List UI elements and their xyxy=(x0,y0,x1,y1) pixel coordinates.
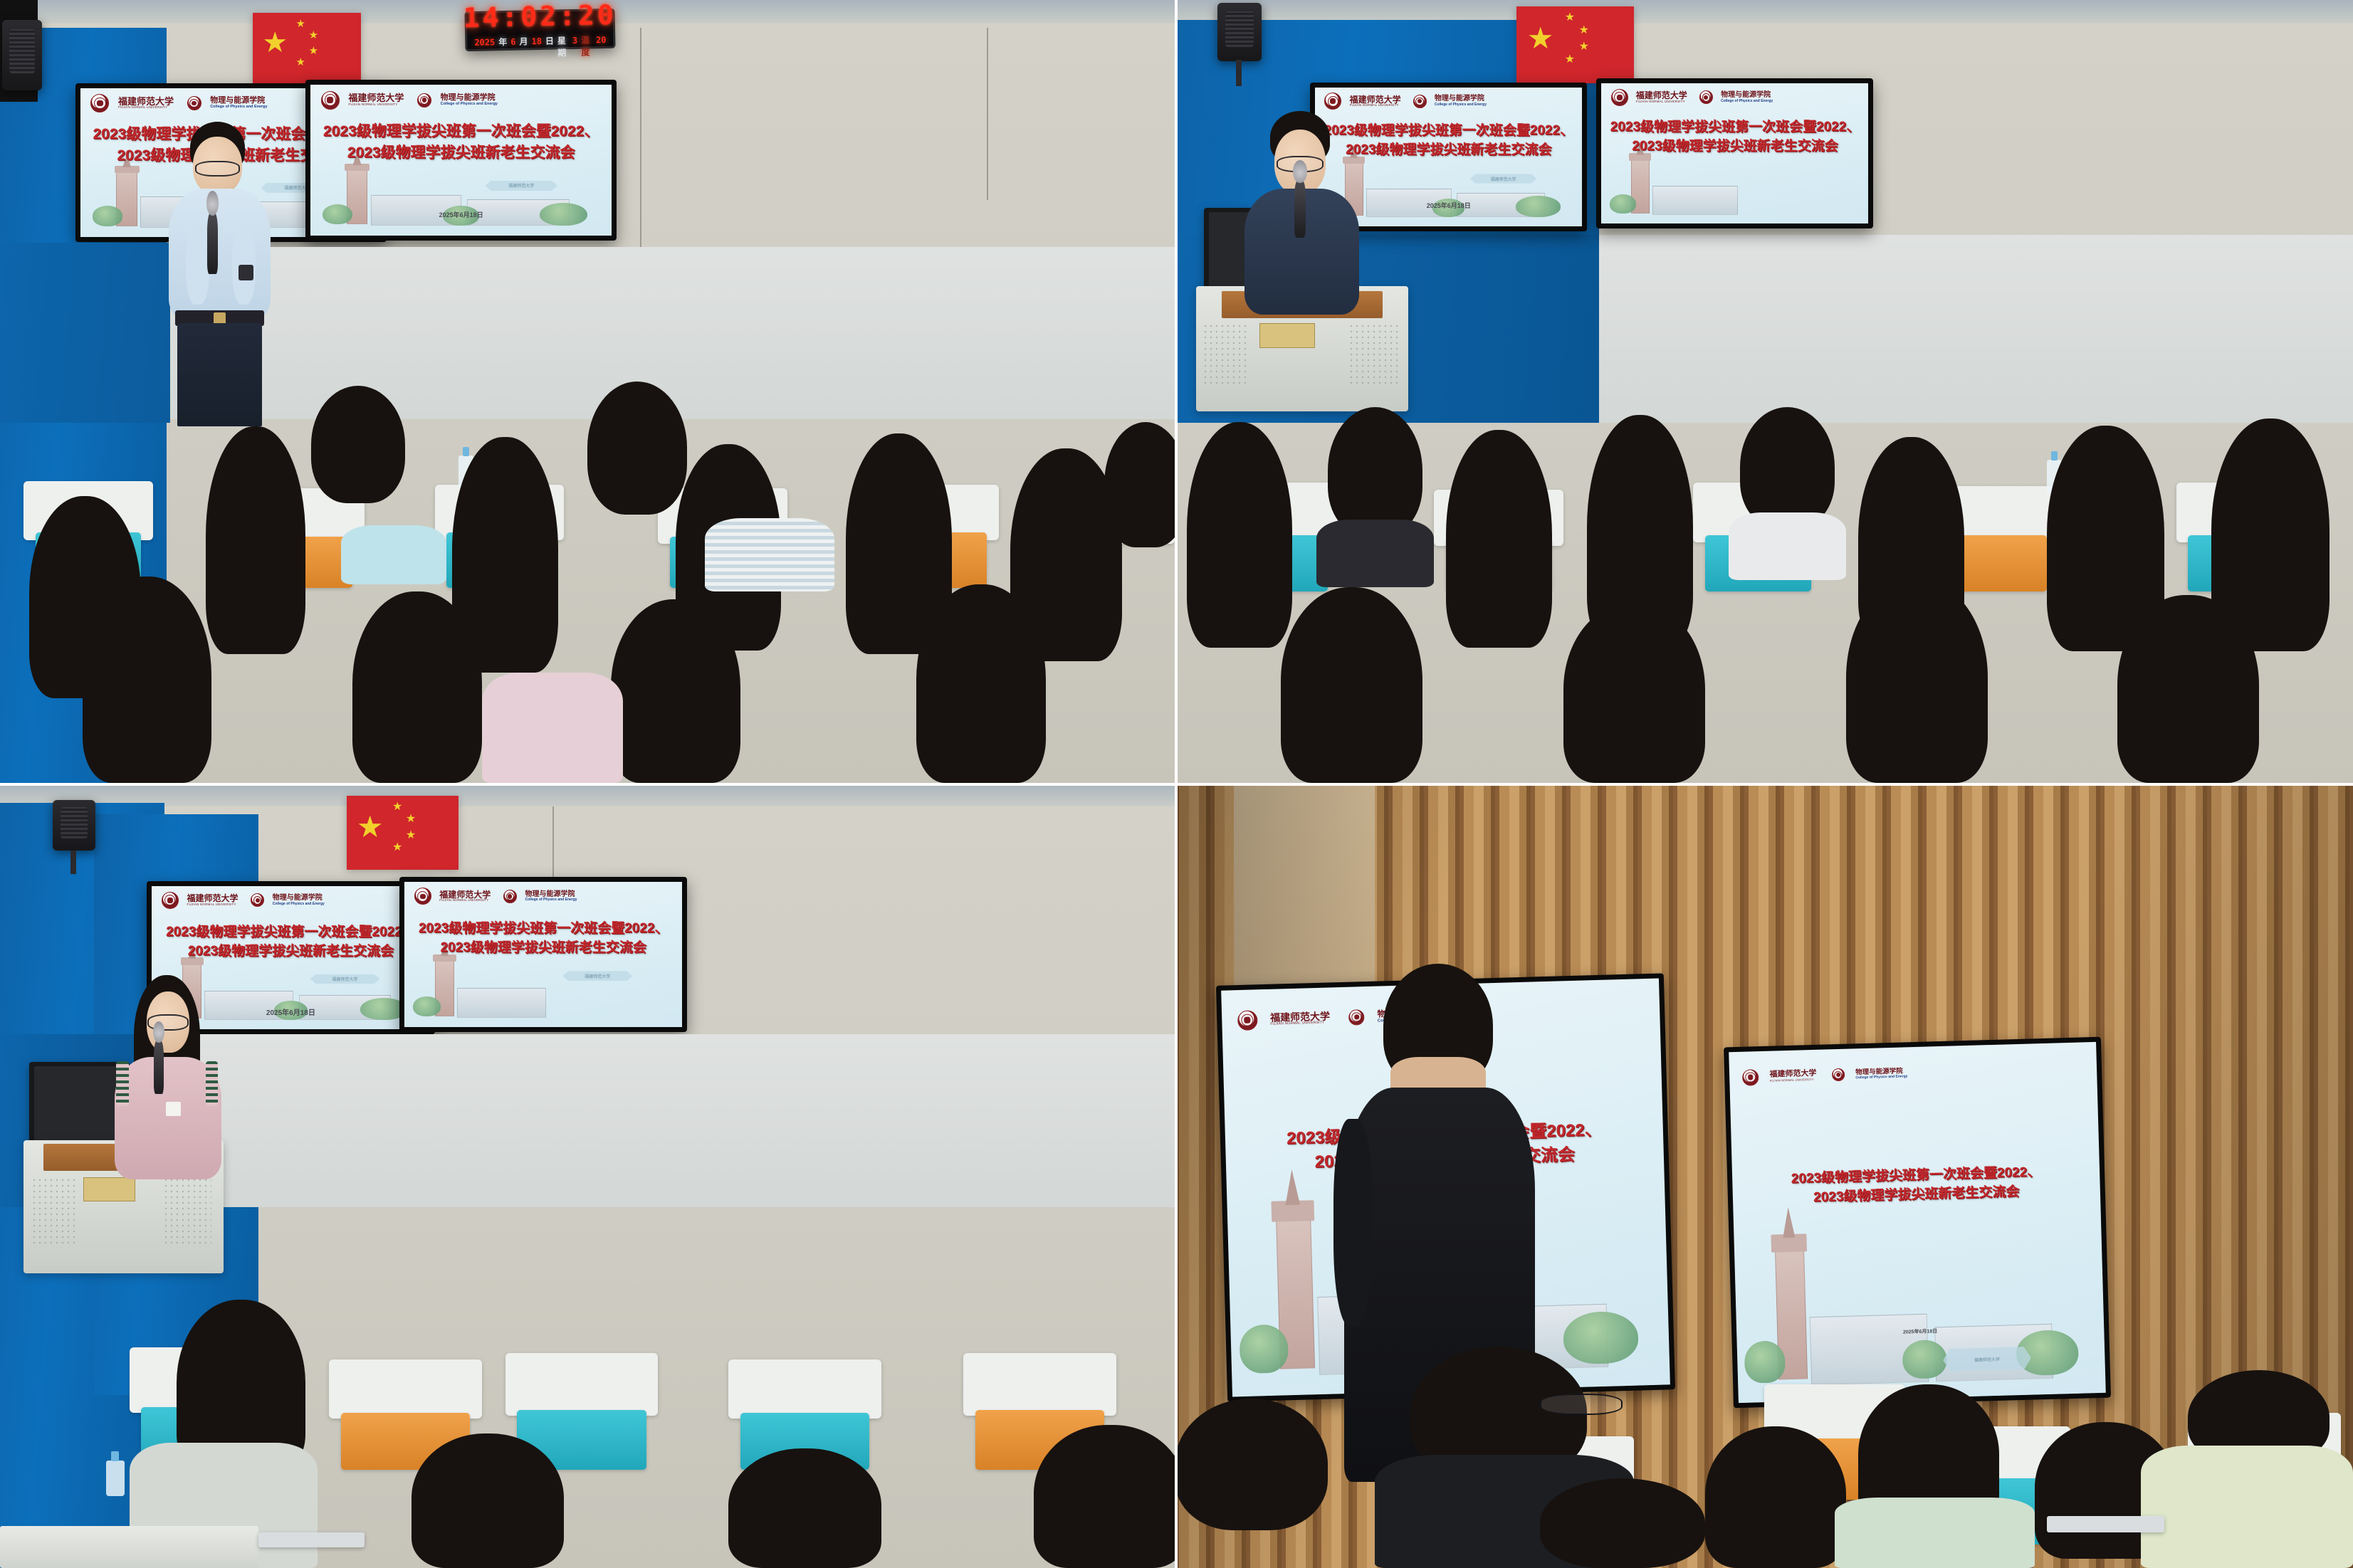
college-name: 物理与能源学院 College of Physics and Energy xyxy=(441,94,498,106)
audience-shirt xyxy=(482,673,623,783)
college-name-en: College of Physics and Energy xyxy=(441,102,498,107)
audience-head xyxy=(1446,430,1552,648)
university-name-en: FUJIAN NORMAL UNIVERSITY xyxy=(439,899,491,903)
clock-temp: 20 xyxy=(596,35,607,45)
blue-wall-lower xyxy=(0,243,170,423)
audience-shirt xyxy=(1729,512,1847,580)
slide-watermark: 福建师范大学 xyxy=(562,971,632,981)
audience-glasses-icon xyxy=(1540,1394,1623,1415)
flag-small-star: ★ xyxy=(1565,12,1575,23)
slide-watermark-text: 福建师范大学 xyxy=(508,182,534,189)
clock-month: 6 xyxy=(511,37,517,47)
china-flag: ★ ★ ★ ★ ★ xyxy=(347,796,458,870)
audience-area xyxy=(1175,1332,2353,1568)
podium-vent xyxy=(163,1177,211,1247)
presenter xyxy=(123,975,212,1179)
clock-time: 14:02:20 xyxy=(463,0,617,34)
college-seal-icon xyxy=(1413,95,1427,108)
clock-month-unit: 月 xyxy=(520,36,528,48)
clock-weekday-label: 星期 xyxy=(557,35,570,59)
audience-head xyxy=(1328,407,1422,535)
audience-head xyxy=(1563,603,1705,783)
presentation-screen-right: 福建师范大学 FUJIAN NORMAL UNIVERSITY 物理与能源学院 … xyxy=(1596,78,1873,228)
audience-head xyxy=(587,382,687,514)
slide-title: 2023级物理学拔尖班第一次班会暨2022、 2023级物理学拔尖班新老生交流会 xyxy=(1732,1162,2100,1210)
podium-vent xyxy=(1202,323,1249,386)
campus-building xyxy=(457,988,546,1018)
audience-head xyxy=(1281,587,1422,783)
audience-head xyxy=(611,599,740,784)
chair-back xyxy=(728,1359,881,1419)
slide-watermark: 福建师范大学 xyxy=(485,181,557,191)
ceiling-speaker xyxy=(53,800,95,851)
ceiling-speaker xyxy=(2,20,42,90)
university-name: 福建师范大学 FUJIAN NORMAL UNIVERSITY xyxy=(1270,1011,1331,1026)
clock-temp-label: 温度 xyxy=(581,34,593,58)
clock-day: 18 xyxy=(532,36,543,46)
university-seal-icon xyxy=(1742,1069,1759,1086)
college-seal-icon xyxy=(1831,1068,1844,1081)
university-name-cn: 福建师范大学 xyxy=(187,894,239,903)
wall-seam xyxy=(640,28,641,278)
university-seal-icon xyxy=(1324,93,1341,110)
college-name: 物理与能源学院 College of Physics and Energy xyxy=(273,895,325,906)
flag-small-star: ★ xyxy=(309,46,318,56)
campus-illustration: 福建师范大学 xyxy=(404,952,682,1027)
name-badge xyxy=(166,1102,180,1116)
speaker-mount xyxy=(1236,60,1242,86)
audience-head xyxy=(83,577,212,783)
audience-shirt xyxy=(2141,1446,2353,1568)
campus-illustration: 福建师范大学 xyxy=(310,157,612,236)
microphone xyxy=(1294,180,1306,237)
speaker-mount xyxy=(70,851,76,874)
audience-shirt xyxy=(1835,1498,2035,1568)
college-name-en: College of Physics and Energy xyxy=(273,903,325,906)
slide-watermark: 福建师范大学 xyxy=(1470,174,1537,183)
slide-logo-row: 福建师范大学 FUJIAN NORMAL UNIVERSITY 物理与能源学院 … xyxy=(414,888,673,905)
college-name-cn: 物理与能源学院 xyxy=(441,94,498,102)
clock-year-unit: 年 xyxy=(498,36,507,48)
china-flag: ★ ★ ★ ★ ★ xyxy=(253,13,361,85)
audience-head xyxy=(311,386,405,503)
college-name-cn: 物理与能源学院 xyxy=(273,895,325,903)
university-name-en: FUJIAN NORMAL UNIVERSITY xyxy=(348,103,404,107)
audience-area xyxy=(0,1270,1175,1568)
screen-content: 福建师范大学 FUJIAN NORMAL UNIVERSITY 物理与能源学院 … xyxy=(1601,83,1868,223)
college-name: 物理与能源学院 College of Physics and Energy xyxy=(525,891,577,903)
slide-title: 2023级物理学拔尖班第一次班会暨2022、 2023级物理学拔尖班新老生交流会 xyxy=(152,923,429,962)
student-desk xyxy=(0,1526,258,1568)
audience-head xyxy=(1104,422,1175,547)
slide-title: 2023级物理学拔尖班第一次班会暨2022、 2023级物理学拔尖班新老生交流会 xyxy=(1315,122,1582,160)
university-seal-icon xyxy=(1611,89,1628,106)
college-name-cn: 物理与能源学院 xyxy=(1721,92,1773,100)
slide-date: 2025年6月18日 xyxy=(1315,201,1582,210)
audience-head xyxy=(1175,1399,1328,1530)
slide-title: 2023级物理学拔尖班第一次班会暨2022、 2023级物理学拔尖班新老生交流会 xyxy=(310,121,612,164)
podium-vent xyxy=(31,1177,75,1247)
university-seal-icon xyxy=(90,94,109,112)
audience-head xyxy=(1705,1426,1847,1568)
audience-head xyxy=(352,591,482,783)
university-name: 福建师范大学 FUJIAN NORMAL UNIVERSITY xyxy=(1350,95,1401,107)
college-seal-icon xyxy=(503,890,517,903)
slide-watermark-text: 福建师范大学 xyxy=(585,973,610,979)
audience-head xyxy=(728,1448,881,1568)
chair-back xyxy=(963,1353,1116,1416)
presenter-glasses-icon xyxy=(195,161,239,176)
presenter-arm xyxy=(1333,1119,1373,1326)
slide-logo-row: 福建师范大学 FUJIAN NORMAL UNIVERSITY 物理与能源学院 … xyxy=(1742,1060,2084,1085)
college-name-en: College of Physics and Energy xyxy=(1435,103,1487,107)
slide-logo-row: 福建师范大学 FUJIAN NORMAL UNIVERSITY 物理与能源学院 … xyxy=(1324,93,1573,110)
university-name: 福建师范大学 FUJIAN NORMAL UNIVERSITY xyxy=(1636,91,1687,103)
slide-logo-row: 福建师范大学 FUJIAN NORMAL UNIVERSITY 物理与能源学院 … xyxy=(321,91,602,110)
college-name-en: College of Physics and Energy xyxy=(1855,1075,1907,1080)
microphone xyxy=(154,1041,164,1094)
university-name: 福建师范大学 FUJIAN NORMAL UNIVERSITY xyxy=(348,93,404,106)
audience-head xyxy=(1034,1425,1175,1568)
college-name: 物理与能源学院 College of Physics and Energy xyxy=(1721,92,1773,103)
university-name-en: FUJIAN NORMAL UNIVERSITY xyxy=(118,106,174,110)
audience-head xyxy=(1846,580,1988,783)
tree xyxy=(1610,194,1636,214)
flag-small-star: ★ xyxy=(1579,41,1589,53)
panel-bottom-left: ★ ★ ★ ★ ★ 福建师范大学 FUJIAN NORMAL UNIVERSIT… xyxy=(0,783,1175,1568)
microphone xyxy=(207,213,218,274)
slide-title: 2023级物理学拔尖班第一次班会暨2022、 2023级物理学拔尖班新老生交流会 xyxy=(1601,118,1868,157)
presenter-trousers xyxy=(177,323,262,427)
college-name-en: College of Physics and Energy xyxy=(525,898,577,902)
clock-weekday: 3 xyxy=(572,36,578,46)
flag-big-star: ★ xyxy=(262,28,288,57)
audience-shirt xyxy=(1316,520,1435,587)
clock-date-row: 2025 年 6 月 18 日 星期 3 温度 20 xyxy=(475,33,607,60)
university-name-en: FUJIAN NORMAL UNIVERSITY xyxy=(1636,100,1687,104)
presentation-screen-right: 福建师范大学 FUJIAN NORMAL UNIVERSITY 物理与能源学院 … xyxy=(305,80,617,241)
audience-head xyxy=(206,426,305,655)
presenter-arm xyxy=(186,225,209,305)
screen-content: 福建师范大学 FUJIAN NORMAL UNIVERSITY 物理与能源学院 … xyxy=(404,882,682,1026)
college-seal-icon xyxy=(417,93,431,107)
audience-area xyxy=(1175,407,2353,783)
clock-day-unit: 日 xyxy=(545,35,554,47)
chair-back xyxy=(505,1353,659,1416)
wristwatch-icon xyxy=(239,265,253,280)
flag-small-star: ★ xyxy=(1565,54,1575,65)
college-name: 物理与能源学院 College of Physics and Energy xyxy=(1435,95,1487,107)
sleeve-stripes xyxy=(116,1061,129,1106)
flag-small-star: ★ xyxy=(392,842,402,853)
audience-head xyxy=(412,1433,565,1568)
university-name: 福建师范大学 FUJIAN NORMAL UNIVERSITY xyxy=(118,97,174,110)
ceiling xyxy=(0,783,1175,806)
campus-illustration xyxy=(1601,151,1868,224)
audience-head xyxy=(1187,422,1293,648)
college-seal-icon xyxy=(251,893,264,907)
university-seal-icon xyxy=(321,91,340,110)
chair-back xyxy=(329,1359,482,1419)
podium-plaque xyxy=(1259,323,1314,348)
flag-small-star: ★ xyxy=(309,30,318,41)
slide-logo-row: 福建师范大学 FUJIAN NORMAL UNIVERSITY 物理与能源学院 … xyxy=(1611,89,1860,106)
tree xyxy=(413,996,441,1016)
college-name-en: College of Physics and Energy xyxy=(210,105,267,110)
collage-divider-horizontal xyxy=(0,783,2353,786)
photo-collage: ★ ★ ★ ★ ★ 14:02:20 2025 年 6 月 18 日 星期 3 … xyxy=(0,0,2353,1568)
audience-head xyxy=(1540,1478,1705,1568)
university-name-cn: 福建师范大学 xyxy=(1636,91,1687,100)
college-name: 物理与能源学院 College of Physics and Energy xyxy=(210,97,267,109)
panel-top-left: ★ ★ ★ ★ ★ 14:02:20 2025 年 6 月 18 日 星期 3 … xyxy=(0,0,1175,783)
flag-small-star: ★ xyxy=(406,830,416,841)
wall-seam xyxy=(987,28,988,200)
slide-date: 2025年6月18日 xyxy=(310,210,612,219)
college-name: 物理与能源学院 College of Physics and Energy xyxy=(1855,1068,1907,1080)
university-name-en: FUJIAN NORMAL UNIVERSITY xyxy=(1270,1021,1330,1026)
audience-area xyxy=(0,415,1175,783)
university-seal-icon xyxy=(414,888,431,905)
audience-head xyxy=(916,584,1046,783)
university-name-en: FUJIAN NORMAL UNIVERSITY xyxy=(1350,104,1401,107)
university-seal-icon xyxy=(162,892,179,909)
audience-shirt xyxy=(705,518,834,591)
university-name: 福建师范大学 FUJIAN NORMAL UNIVERSITY xyxy=(187,894,239,906)
audience-shirt xyxy=(341,525,447,584)
university-name-en: FUJIAN NORMAL UNIVERSITY xyxy=(1770,1078,1817,1083)
slide-title: 2023级物理学拔尖班第一次班会暨2022、 2023级物理学拔尖班新老生交流会 xyxy=(404,920,682,958)
screen-content: 福建师范大学 FUJIAN NORMAL UNIVERSITY 物理与能源学院 … xyxy=(1315,88,1582,226)
flag-big-star: ★ xyxy=(1527,23,1554,53)
college-seal-icon xyxy=(1699,90,1713,104)
ceiling-speaker xyxy=(1217,3,1262,60)
clock-year: 2025 xyxy=(475,38,496,48)
presenter xyxy=(1252,111,1351,315)
university-name: 福建师范大学 FUJIAN NORMAL UNIVERSITY xyxy=(439,890,491,903)
audience-head xyxy=(2117,595,2259,783)
flag-small-star: ★ xyxy=(295,19,305,29)
panel-top-right: ★ ★ ★ ★ ★ 福建师范大学 FUJIAN NORMAL UNIVERSIT… xyxy=(1175,0,2353,783)
podium-plaque xyxy=(83,1177,135,1201)
college-seal-icon xyxy=(187,96,201,110)
university-name-cn: 福建师范大学 xyxy=(348,93,404,103)
presentation-screen-right: 福建师范大学 FUJIAN NORMAL UNIVERSITY 物理与能源学院 … xyxy=(399,877,687,1031)
presenter xyxy=(167,122,273,427)
panel-bottom-right: 福建师范大学 FUJIAN NORMAL UNIVERSITY 物理与能源学院 … xyxy=(1175,783,2353,1568)
audience-head xyxy=(1740,407,1834,527)
flag-small-star: ★ xyxy=(1579,25,1589,36)
screen-content: 福建师范大学 FUJIAN NORMAL UNIVERSITY 物理与能源学院 … xyxy=(310,85,612,236)
university-name-en: FUJIAN NORMAL UNIVERSITY xyxy=(187,903,239,907)
slide-watermark: 福建师范大学 xyxy=(310,974,380,984)
sleeve-stripes xyxy=(206,1061,219,1106)
notebook xyxy=(258,1532,365,1547)
flag-small-star: ★ xyxy=(295,57,305,68)
campus-building xyxy=(1652,186,1738,215)
digital-wall-clock: 14:02:20 2025 年 6 月 18 日 星期 3 温度 20 xyxy=(465,9,616,52)
flag-big-star: ★ xyxy=(357,812,384,842)
university-seal-icon xyxy=(1237,1010,1258,1031)
slide-watermark-text: 福建师范大学 xyxy=(1491,176,1516,182)
university-name-cn: 福建师范大学 xyxy=(118,97,174,107)
flag-small-star: ★ xyxy=(392,801,402,813)
podium-vent xyxy=(1348,323,1399,386)
university-name: 福建师范大学 FUJIAN NORMAL UNIVERSITY xyxy=(1769,1070,1816,1083)
china-flag: ★ ★ ★ ★ ★ xyxy=(1516,6,1635,83)
flag-small-star: ★ xyxy=(406,814,416,825)
slide-logo-row: 福建师范大学 FUJIAN NORMAL UNIVERSITY 物理与能源学院 … xyxy=(162,892,420,909)
water-bottle xyxy=(106,1461,125,1496)
college-name-en: College of Physics and Energy xyxy=(1721,100,1773,103)
slide-watermark-text: 福建师范大学 xyxy=(332,976,357,982)
laptop xyxy=(2047,1516,2165,1532)
